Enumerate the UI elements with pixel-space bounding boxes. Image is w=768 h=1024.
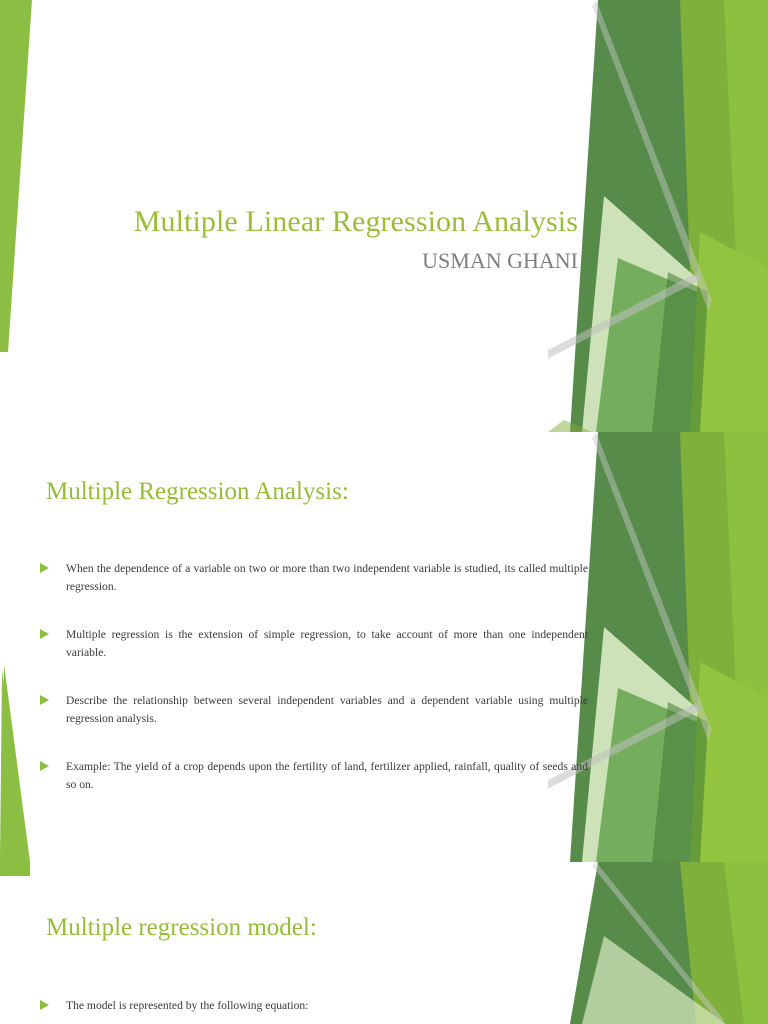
list-item-text: Describe the relationship between severa… xyxy=(66,692,588,728)
slide-heading: Multiple regression model: xyxy=(46,914,317,942)
triangle-right-icon xyxy=(40,560,66,573)
green-wedge-tip xyxy=(0,862,30,876)
list-item: Describe the relationship between severa… xyxy=(40,692,588,728)
title-block: Multiple Linear Regression Analysis USMA… xyxy=(0,205,592,273)
bullet-list: When the dependence of a variable on two… xyxy=(40,560,588,794)
list-item: Example: The yield of a crop depends upo… xyxy=(40,758,588,794)
slide-title: Multiple Linear Regression Analysis USMA… xyxy=(0,0,768,432)
list-item-text: The model is represented by the followin… xyxy=(66,997,588,1015)
triangle-right-icon xyxy=(40,626,66,639)
list-item: The model is represented by the followin… xyxy=(40,997,588,1015)
slide-deck-page: Multiple Linear Regression Analysis USMA… xyxy=(0,0,768,1024)
page-subtitle: USMAN GHANI xyxy=(0,249,578,273)
list-item-text: Multiple regression is the extension of … xyxy=(66,626,588,662)
list-item: When the dependence of a variable on two… xyxy=(40,560,588,596)
list-item: Multiple regression is the extension of … xyxy=(40,626,588,662)
triangle-right-icon xyxy=(40,997,66,1010)
slide-multiple-regression-analysis: Multiple Regression Analysis: When the d… xyxy=(0,432,768,862)
triangle-right-icon xyxy=(40,692,66,705)
page-title: Multiple Linear Regression Analysis xyxy=(0,205,578,238)
triangle-right-icon xyxy=(40,758,66,771)
list-item-text: When the dependence of a variable on two… xyxy=(66,560,588,596)
bullet-list: The model is represented by the followin… xyxy=(40,997,588,1015)
slide-multiple-regression-model: Multiple regression model: The model is … xyxy=(0,862,768,1024)
slide-heading: Multiple Regression Analysis: xyxy=(46,478,349,506)
list-item-text: Example: The yield of a crop depends upo… xyxy=(66,758,588,794)
